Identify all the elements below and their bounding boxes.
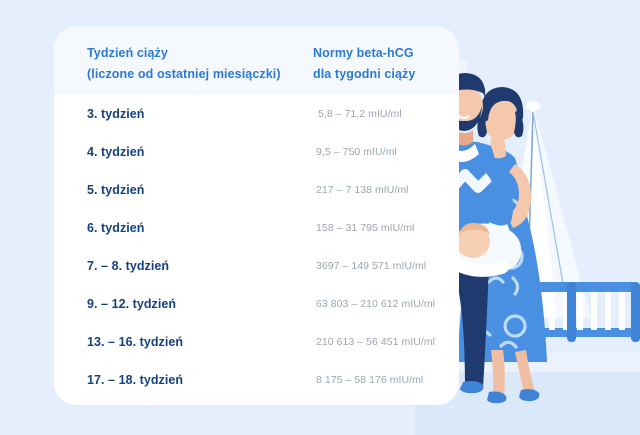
page-root: Tydzień ciąży (liczone od ostatniej mies… bbox=[0, 0, 640, 435]
row-norm-value: 63 803 – 210 612 mIU/ml bbox=[316, 298, 435, 310]
table-body: 3. tydzień 5,8 – 71,2 mIU/ml 4. tydzień … bbox=[54, 95, 459, 399]
row-norm-value: 217 – 7 138 mIU/ml bbox=[316, 184, 409, 196]
table-row: 17. – 18. tydzień 8 175 – 58 176 mIU/ml bbox=[54, 361, 459, 399]
column-header-norm-line2: dla tygodni ciąży bbox=[313, 64, 415, 85]
table-row: 13. – 16. tydzień 210 613 – 56 451 mIU/m… bbox=[54, 323, 459, 361]
row-norm-value: 8 175 – 58 176 mIU/ml bbox=[316, 374, 423, 386]
hcg-norms-card: Tydzień ciąży (liczone od ostatniej mies… bbox=[54, 27, 459, 405]
row-norm-value: 158 – 31 795 mIU/ml bbox=[316, 222, 414, 234]
row-norm-value: 3697 – 149 571 mIU/ml bbox=[316, 260, 426, 272]
row-norm-value: 210 613 – 56 451 mIU/ml bbox=[316, 336, 435, 348]
row-week-label: 5. tydzień bbox=[87, 183, 144, 197]
column-header-norm-line1: Normy beta-hCG bbox=[313, 43, 415, 64]
column-header-week-line1: Tydzień ciąży bbox=[87, 43, 281, 64]
column-header-week: Tydzień ciąży (liczone od ostatniej mies… bbox=[87, 43, 281, 85]
column-header-norm: Normy beta-hCG dla tygodni ciąży bbox=[313, 43, 415, 85]
row-week-label: 9. – 12. tydzień bbox=[87, 297, 176, 311]
row-week-label: 4. tydzień bbox=[87, 145, 144, 159]
table-row: 3. tydzień 5,8 – 71,2 mIU/ml bbox=[54, 95, 459, 133]
row-week-label: 7. – 8. tydzień bbox=[87, 259, 169, 273]
row-week-label: 17. – 18. tydzień bbox=[87, 373, 183, 387]
table-row: 5. tydzień 217 – 7 138 mIU/ml bbox=[54, 171, 459, 209]
table-row: 7. – 8. tydzień 3697 – 149 571 mIU/ml bbox=[54, 247, 459, 285]
row-week-label: 6. tydzień bbox=[87, 221, 144, 235]
table-row: 4. tydzień 9,5 – 750 mIU/ml bbox=[54, 133, 459, 171]
row-norm-value: 9,5 – 750 mIU/ml bbox=[316, 146, 397, 158]
row-norm-value: 5,8 – 71,2 mIU/ml bbox=[318, 108, 402, 120]
table-row: 6. tydzień 158 – 31 795 mIU/ml bbox=[54, 209, 459, 247]
row-week-label: 13. – 16. tydzień bbox=[87, 335, 183, 349]
row-week-label: 3. tydzień bbox=[87, 107, 144, 121]
table-row: 9. – 12. tydzień 63 803 – 210 612 mIU/ml bbox=[54, 285, 459, 323]
column-header-week-line2: (liczone od ostatniej miesiączki) bbox=[87, 64, 281, 85]
